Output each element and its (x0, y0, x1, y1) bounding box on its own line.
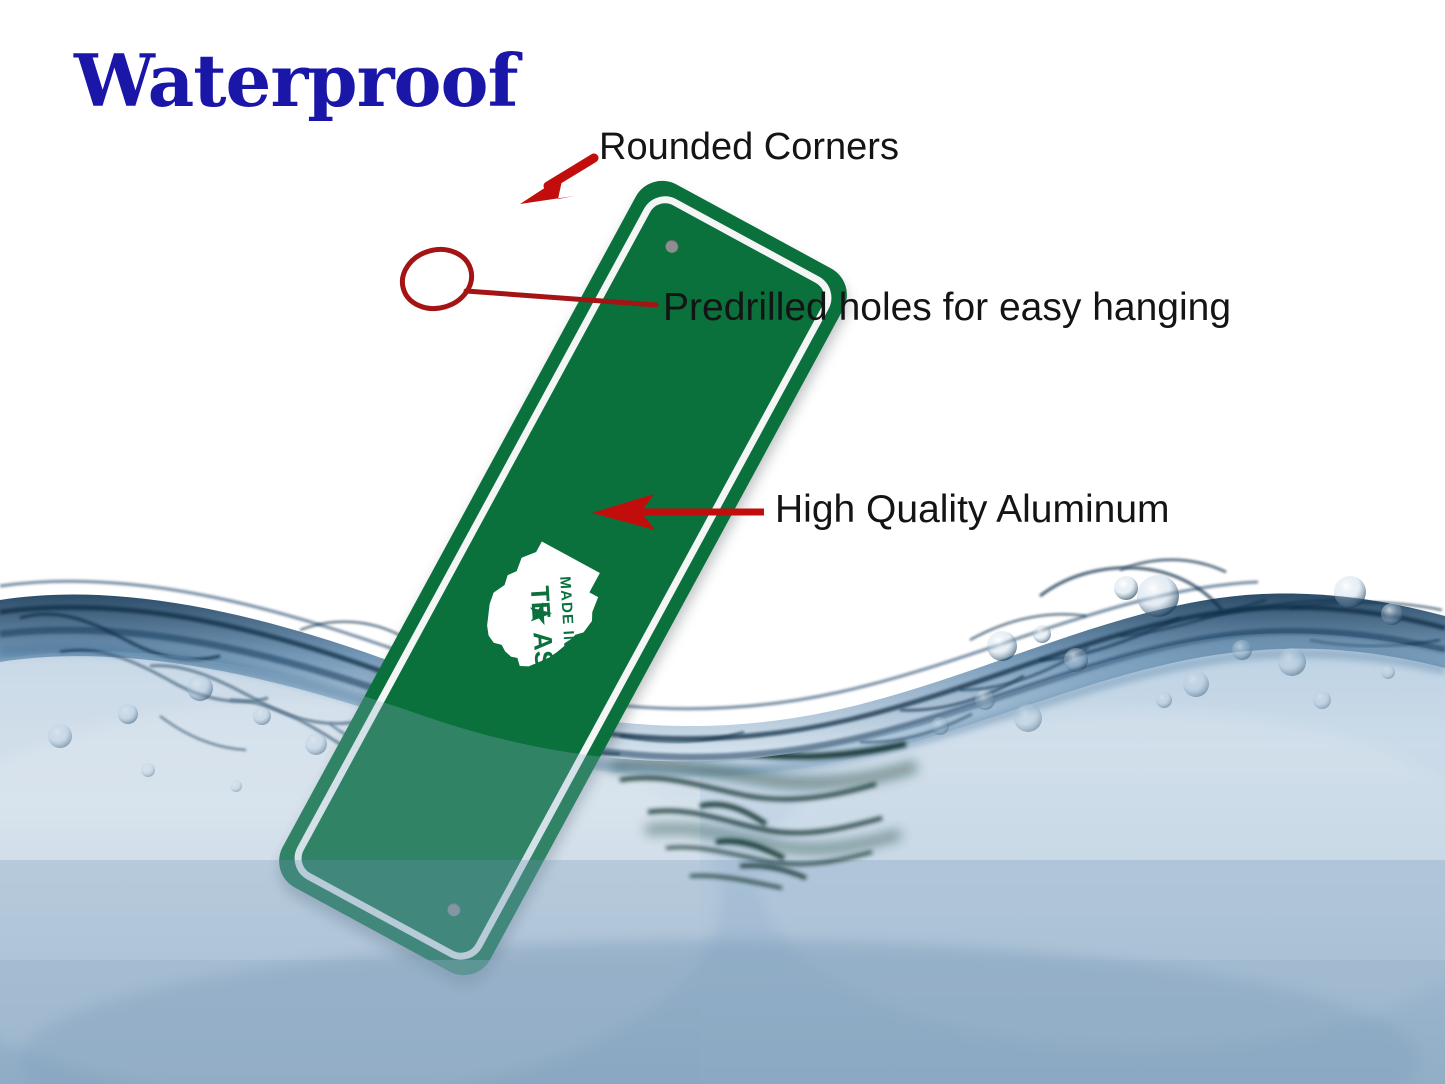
logo-texas-suffix: AS (528, 631, 560, 669)
annotation-label-predrilled-holes: Predrilled holes for easy hanging (663, 288, 1231, 327)
product-feature-image: Waterproof MADE IN TE ★ AS (0, 0, 1445, 1084)
logo-star-icon: ★ (522, 599, 559, 628)
annotation-label-high-quality-aluminum: High Quality Aluminum (775, 490, 1170, 529)
annotation-label-rounded-corners: Rounded Corners (599, 128, 899, 166)
